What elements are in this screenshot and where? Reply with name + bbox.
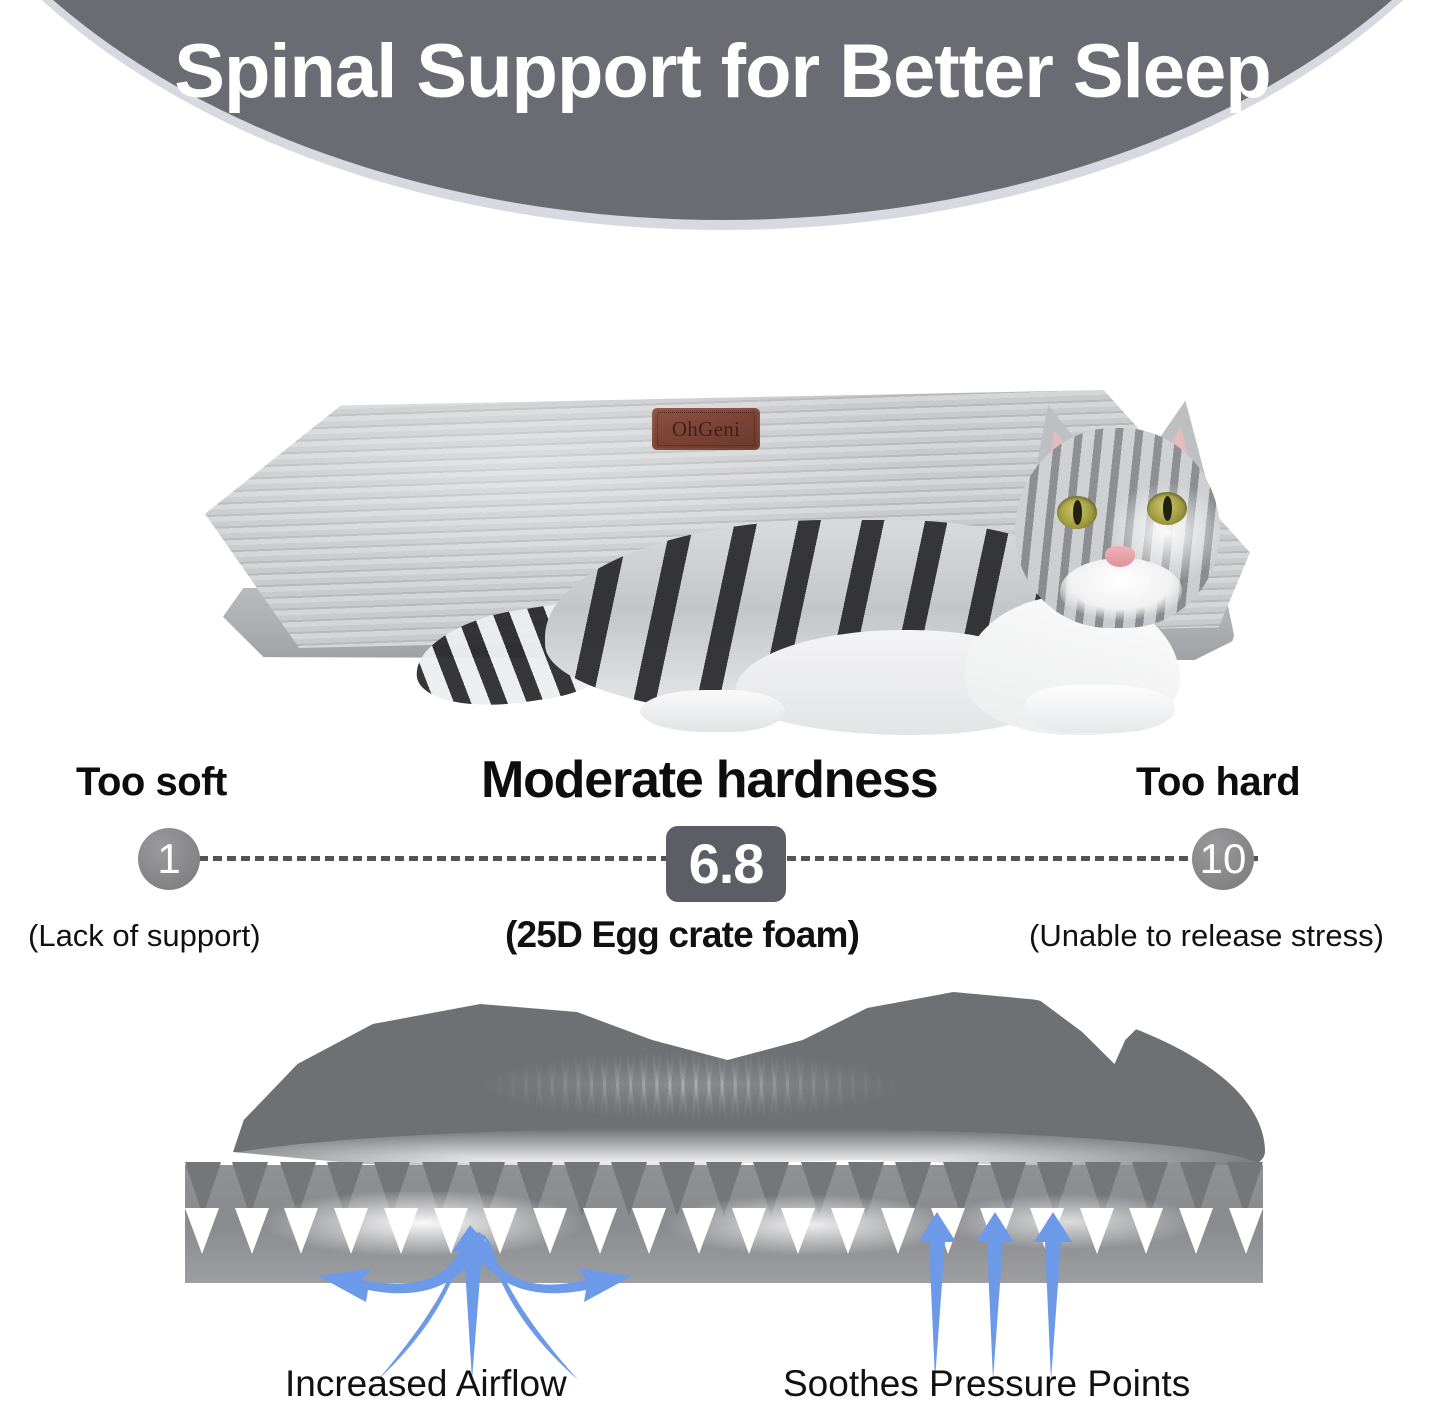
scale-note-foam: (25D Egg crate foam) bbox=[505, 916, 859, 953]
scale-label-moderate: Moderate hardness bbox=[481, 754, 937, 806]
cat-rear-paw bbox=[640, 690, 785, 732]
airflow-arrow-group bbox=[0, 980, 1445, 1418]
foam-cross-section-diagram: Increased Airflow Soothes Pressure Point… bbox=[0, 980, 1445, 1418]
scale-label-hard: Too hard bbox=[1136, 762, 1300, 802]
scale-note-hard: (Unable to release stress) bbox=[1029, 920, 1384, 951]
pressure-arrow-2 bbox=[976, 1212, 1014, 1380]
caption-increased-airflow: Increased Airflow bbox=[285, 1365, 567, 1402]
cat-photo bbox=[405, 400, 1265, 730]
pressure-arrow-3 bbox=[1034, 1212, 1072, 1380]
cat-eye-left bbox=[1057, 496, 1097, 529]
header-banner: Spinal Support for Better Sleep bbox=[0, 0, 1445, 235]
cat-muzzle bbox=[1060, 558, 1182, 624]
hardness-value-badge: 6.8 bbox=[666, 826, 786, 902]
scale-endpoint-min: 1 bbox=[138, 828, 200, 890]
pet-bed: OhGeni bbox=[205, 390, 1250, 710]
brand-name: OhGeni bbox=[672, 417, 740, 442]
scale-label-soft: Too soft bbox=[76, 762, 227, 802]
brand-logo-tag: OhGeni bbox=[652, 408, 760, 450]
product-photo: OhGeni bbox=[0, 235, 1445, 735]
caption-soothes-pressure-points: Soothes Pressure Points bbox=[783, 1365, 1190, 1402]
airflow-tail-right bbox=[484, 1235, 578, 1380]
airflow-arrow-right bbox=[466, 1232, 632, 1302]
scale-endpoint-max: 10 bbox=[1192, 828, 1254, 890]
scale-note-soft: (Lack of support) bbox=[28, 920, 261, 951]
page-title: Spinal Support for Better Sleep bbox=[0, 34, 1445, 110]
cat-front-paw bbox=[1025, 685, 1175, 733]
cat-eye-right bbox=[1147, 492, 1187, 525]
pressure-arrow-1 bbox=[918, 1212, 956, 1380]
airflow-tail-left bbox=[378, 1235, 468, 1380]
hardness-scale: Too soft Moderate hardness Too hard 1 10… bbox=[0, 748, 1445, 980]
